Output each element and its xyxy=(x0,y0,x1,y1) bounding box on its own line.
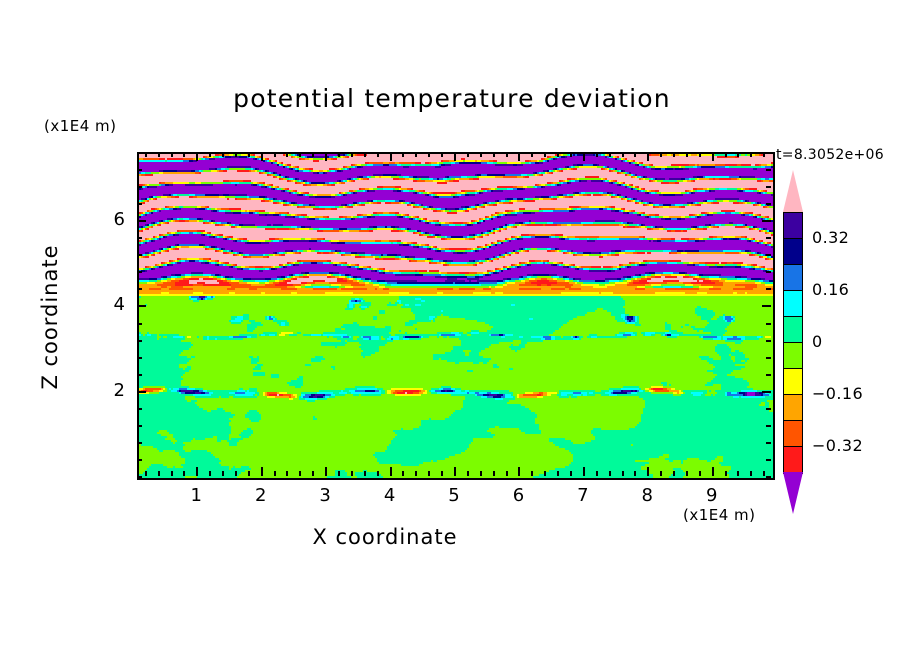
x-axis-title: X coordinate xyxy=(0,525,770,549)
x-tick-minor xyxy=(750,471,752,476)
colorbar-band xyxy=(783,212,803,240)
x-tick-minor xyxy=(673,471,675,476)
x-tick-minor xyxy=(660,471,662,476)
x-tick-minor xyxy=(699,471,701,476)
y-tick-minor xyxy=(766,323,771,325)
y-tick-minor xyxy=(137,254,142,256)
x-tick-label: 2 xyxy=(246,485,276,506)
x-tick-major xyxy=(647,152,649,161)
x-tick-minor xyxy=(699,152,701,157)
x-tick-minor xyxy=(557,152,559,157)
y-tick-minor xyxy=(766,374,771,376)
y-tick-major xyxy=(137,220,146,222)
x-tick-minor xyxy=(467,471,469,476)
x-tick-minor xyxy=(183,471,185,476)
x-tick-minor xyxy=(364,152,366,157)
x-tick-minor xyxy=(222,152,224,157)
x-tick-minor xyxy=(299,152,301,157)
y-tick-major xyxy=(762,220,771,222)
page-title: potential temperature deviation xyxy=(0,84,904,113)
plot-area xyxy=(137,152,775,480)
y-tick-minor xyxy=(137,459,142,461)
colorbar-over-cap xyxy=(783,170,803,212)
colorbar-tick-label: 0.16 xyxy=(812,280,849,299)
x-tick-minor xyxy=(622,471,624,476)
y-tick-major xyxy=(137,305,146,307)
y-tick-minor xyxy=(137,442,142,444)
x-tick-label: 3 xyxy=(310,485,340,506)
heatmap-field xyxy=(139,154,773,478)
x-tick-minor xyxy=(351,471,353,476)
y-tick-label: 4 xyxy=(95,294,125,315)
x-tick-minor xyxy=(493,471,495,476)
y-axis-title: Z coordinate xyxy=(38,207,62,427)
colorbar-band xyxy=(783,446,803,474)
x-tick-minor xyxy=(544,152,546,157)
x-tick-minor xyxy=(480,471,482,476)
x-tick-minor xyxy=(286,471,288,476)
colorbar-tick-label: −0.32 xyxy=(812,436,863,455)
y-tick-minor xyxy=(766,357,771,359)
y-tick-minor xyxy=(137,476,142,478)
x-tick-label: 4 xyxy=(375,485,405,506)
x-tick-label: 5 xyxy=(439,485,469,506)
x-tick-minor xyxy=(634,152,636,157)
colorbar-band xyxy=(783,420,803,448)
x-tick-minor xyxy=(274,471,276,476)
x-tick-minor xyxy=(171,471,173,476)
y-tick-minor xyxy=(766,459,771,461)
y-tick-minor xyxy=(137,152,142,154)
x-tick-label: 6 xyxy=(503,485,533,506)
colorbar-band xyxy=(783,342,803,370)
y-tick-minor xyxy=(137,374,142,376)
x-tick-minor xyxy=(622,152,624,157)
x-tick-minor xyxy=(763,152,765,157)
x-tick-minor xyxy=(686,152,688,157)
x-tick-minor xyxy=(377,471,379,476)
x-tick-minor xyxy=(377,152,379,157)
x-tick-minor xyxy=(506,152,508,157)
x-tick-minor xyxy=(402,152,404,157)
y-tick-minor xyxy=(766,288,771,290)
x-tick-minor xyxy=(673,152,675,157)
x-tick-minor xyxy=(312,471,314,476)
x-tick-major xyxy=(583,152,585,161)
x-tick-minor xyxy=(428,152,430,157)
x-tick-minor xyxy=(609,152,611,157)
figure-canvas: potential temperature deviation (x1E4 m)… xyxy=(0,0,904,654)
x-tick-minor xyxy=(415,471,417,476)
x-tick-minor xyxy=(351,152,353,157)
colorbar-band xyxy=(783,394,803,422)
x-tick-minor xyxy=(235,471,237,476)
y-tick-major xyxy=(137,391,146,393)
x-tick-major xyxy=(454,467,456,476)
y-tick-minor xyxy=(766,169,771,171)
y-tick-minor xyxy=(766,237,771,239)
x-tick-minor xyxy=(660,152,662,157)
x-tick-minor xyxy=(209,471,211,476)
x-tick-minor xyxy=(235,152,237,157)
x-tick-minor xyxy=(441,152,443,157)
x-tick-minor xyxy=(338,152,340,157)
x-axis-unit-label: (x1E4 m) xyxy=(683,506,756,524)
x-tick-minor xyxy=(209,152,211,157)
timestamp-annotation: t=8.3052e+06 xyxy=(776,147,884,163)
x-tick-label: 9 xyxy=(697,485,727,506)
x-tick-major xyxy=(390,467,392,476)
y-tick-minor xyxy=(766,408,771,410)
colorbar-band xyxy=(783,290,803,318)
y-tick-minor xyxy=(766,203,771,205)
x-tick-label: 7 xyxy=(568,485,598,506)
x-tick-label: 8 xyxy=(632,485,662,506)
x-tick-minor xyxy=(750,152,752,157)
y-tick-label: 2 xyxy=(95,380,125,401)
x-tick-label: 1 xyxy=(181,485,211,506)
x-tick-minor xyxy=(609,471,611,476)
y-tick-major xyxy=(762,391,771,393)
y-tick-minor xyxy=(137,203,142,205)
x-tick-minor xyxy=(493,152,495,157)
y-tick-minor xyxy=(766,254,771,256)
colorbar xyxy=(783,212,803,472)
y-tick-minor xyxy=(137,323,142,325)
x-tick-minor xyxy=(725,152,727,157)
y-tick-minor xyxy=(137,237,142,239)
x-tick-minor xyxy=(686,471,688,476)
y-tick-minor xyxy=(137,340,142,342)
y-tick-minor xyxy=(137,271,142,273)
y-tick-minor xyxy=(137,169,142,171)
y-tick-minor xyxy=(766,340,771,342)
x-tick-major xyxy=(647,467,649,476)
y-tick-minor xyxy=(137,425,142,427)
y-tick-label: 6 xyxy=(95,209,125,230)
x-tick-major xyxy=(196,467,198,476)
x-tick-minor xyxy=(222,471,224,476)
x-tick-minor xyxy=(531,152,533,157)
x-tick-minor xyxy=(480,152,482,157)
y-axis-unit-label: (x1E4 m) xyxy=(44,117,117,135)
x-tick-minor xyxy=(364,471,366,476)
y-tick-minor xyxy=(137,408,142,410)
colorbar-tick-label: 0.32 xyxy=(812,228,849,247)
x-tick-major xyxy=(712,467,714,476)
x-tick-major xyxy=(261,152,263,161)
x-tick-minor xyxy=(145,471,147,476)
x-tick-minor xyxy=(286,152,288,157)
y-tick-major xyxy=(762,305,771,307)
colorbar-band xyxy=(783,238,803,266)
y-tick-minor xyxy=(766,476,771,478)
x-tick-minor xyxy=(158,471,160,476)
x-tick-minor xyxy=(171,152,173,157)
colorbar-band xyxy=(783,264,803,292)
x-tick-major xyxy=(454,152,456,161)
x-tick-minor xyxy=(145,152,147,157)
x-tick-major xyxy=(261,467,263,476)
x-tick-minor xyxy=(544,471,546,476)
y-tick-minor xyxy=(137,357,142,359)
x-tick-major xyxy=(196,152,198,161)
x-tick-minor xyxy=(557,471,559,476)
colorbar-under-cap xyxy=(783,472,803,514)
x-tick-minor xyxy=(570,152,572,157)
x-tick-minor xyxy=(725,471,727,476)
y-tick-minor xyxy=(766,442,771,444)
x-tick-minor xyxy=(248,152,250,157)
colorbar-tick-label: 0 xyxy=(812,332,823,351)
x-tick-minor xyxy=(596,471,598,476)
x-tick-minor xyxy=(183,152,185,157)
colorbar-tick-label: −0.16 xyxy=(812,384,863,403)
x-tick-major xyxy=(583,467,585,476)
x-tick-major xyxy=(390,152,392,161)
x-tick-minor xyxy=(634,471,636,476)
x-tick-minor xyxy=(596,152,598,157)
y-tick-minor xyxy=(766,425,771,427)
x-tick-minor xyxy=(737,152,739,157)
x-tick-minor xyxy=(299,471,301,476)
x-tick-minor xyxy=(415,152,417,157)
x-tick-major xyxy=(325,467,327,476)
x-tick-major xyxy=(325,152,327,161)
x-tick-minor xyxy=(763,471,765,476)
x-tick-major xyxy=(518,152,520,161)
y-tick-minor xyxy=(766,271,771,273)
y-tick-minor xyxy=(766,186,771,188)
y-tick-minor xyxy=(137,288,142,290)
x-tick-minor xyxy=(248,471,250,476)
x-tick-minor xyxy=(441,471,443,476)
x-tick-minor xyxy=(274,152,276,157)
x-tick-major xyxy=(712,152,714,161)
y-tick-minor xyxy=(766,152,771,154)
x-tick-minor xyxy=(428,471,430,476)
x-tick-major xyxy=(518,467,520,476)
x-tick-minor xyxy=(312,152,314,157)
x-tick-minor xyxy=(467,152,469,157)
colorbar-band xyxy=(783,316,803,344)
x-tick-minor xyxy=(737,471,739,476)
x-tick-minor xyxy=(531,471,533,476)
x-tick-minor xyxy=(338,471,340,476)
x-tick-minor xyxy=(158,152,160,157)
x-tick-minor xyxy=(506,471,508,476)
x-tick-minor xyxy=(570,471,572,476)
y-tick-minor xyxy=(137,186,142,188)
x-tick-minor xyxy=(402,471,404,476)
colorbar-band xyxy=(783,368,803,396)
